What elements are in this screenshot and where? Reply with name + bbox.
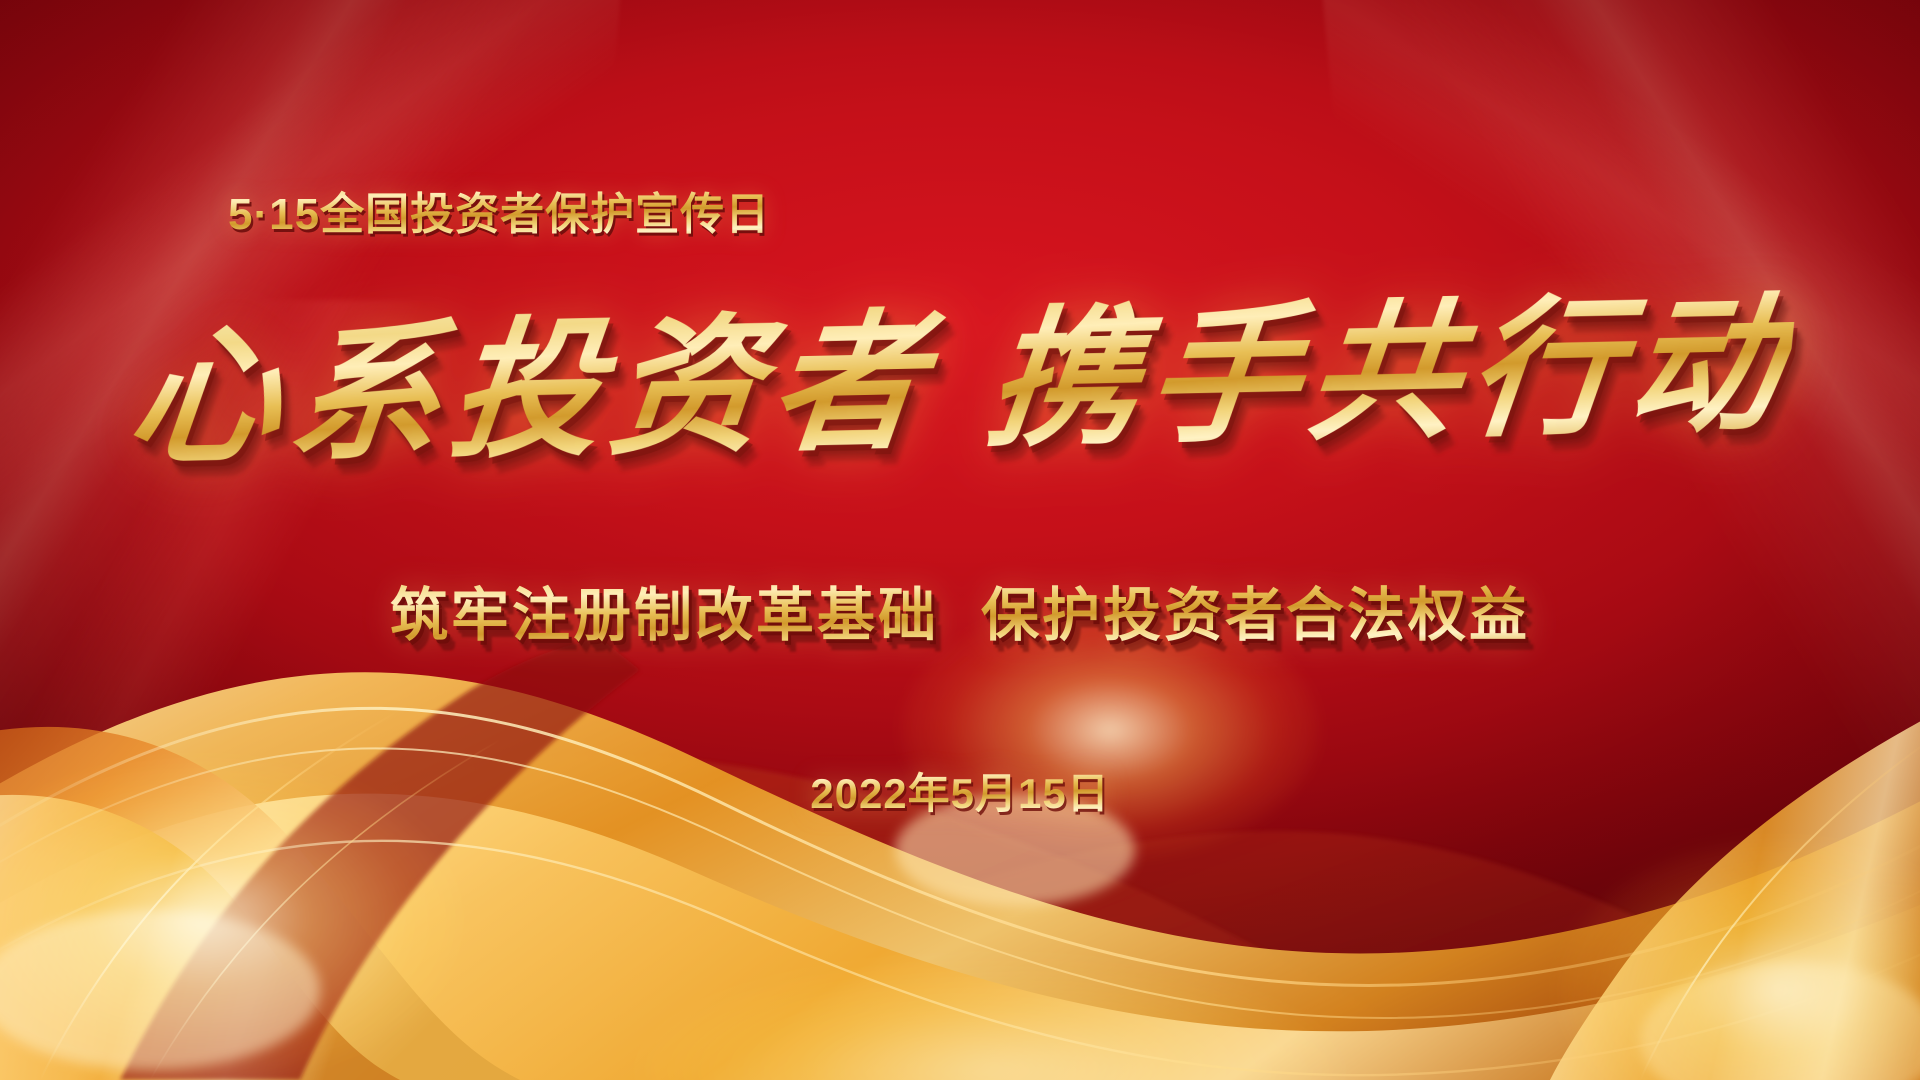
subtitle-right-phrase: 保护投资者合法权益 (981, 583, 1530, 648)
event-eyebrow-text: 5·15全国投资者保护宣传日 (228, 178, 770, 242)
subtitle-line: 筑牢注册制改革基础保护投资者合法权益 (390, 568, 1530, 652)
headline-right-phrase: 携手共行动 (979, 276, 1799, 469)
subtitle-left-phrase: 筑牢注册制改革基础 (390, 583, 939, 648)
event-date-text: 2022年5月15日 (810, 760, 1110, 821)
headline-block: 心系投资者携手共行动 (0, 300, 1920, 462)
headline-spacer (927, 432, 983, 433)
date-block: 2022年5月15日 (0, 760, 1920, 821)
subtitle-block: 筑牢注册制改革基础保护投资者合法权益 (0, 568, 1920, 652)
poster-content: 5·15全国投资者保护宣传日 心系投资者携手共行动 筑牢注册制改革基础保护投资者… (0, 0, 1920, 1080)
poster-canvas: 5·15全国投资者保护宣传日 心系投资者携手共行动 筑牢注册制改革基础保护投资者… (0, 0, 1920, 1080)
headline-calligraphy: 心系投资者携手共行动 (122, 283, 1798, 480)
headline-left-phrase: 心系投资者 (121, 294, 941, 487)
